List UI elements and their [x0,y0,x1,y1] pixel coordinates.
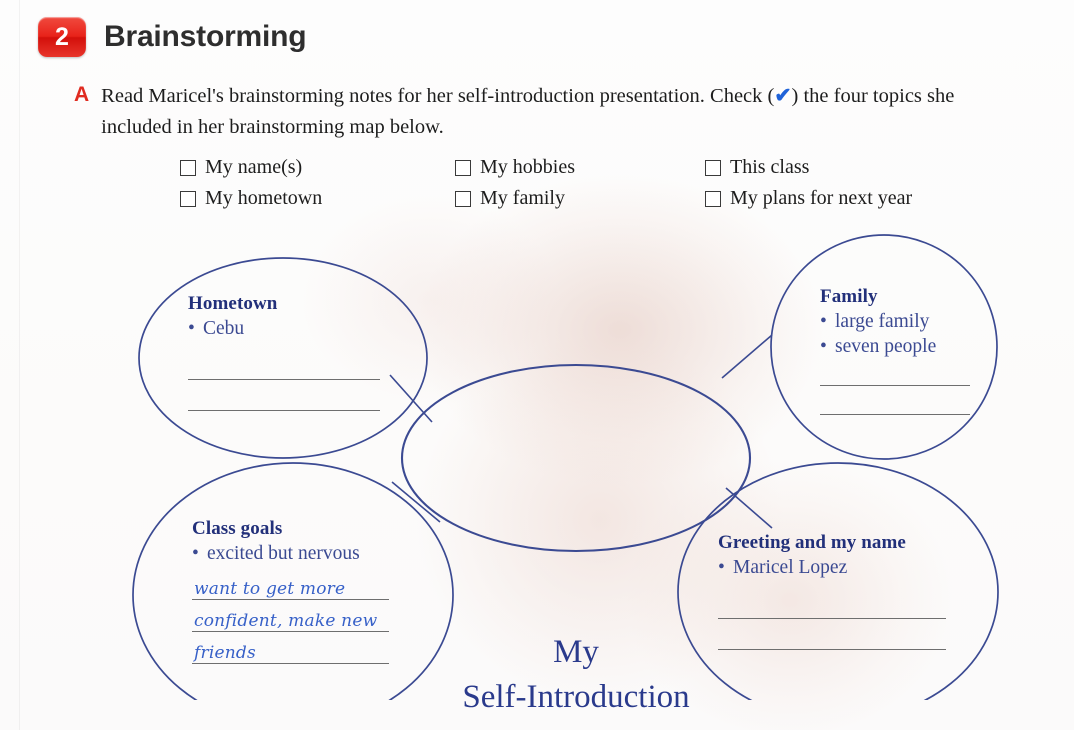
section-header: 2 Brainstorming [38,17,306,57]
blank-write-line[interactable] [718,649,946,650]
handwriting-line[interactable]: confident, make new [192,611,389,632]
section-number-badge: 2 [38,17,86,57]
bubble-class-goals: Class goals excited but nervous want to … [192,518,404,664]
task-letter: A [74,80,89,143]
blank-write-line[interactable] [820,414,970,415]
bubble-hometown: Hometown Cebu [188,293,388,411]
instruction-text-part1: Read Maricel's brainstorming notes for h… [101,85,774,107]
connector-hometown [390,375,432,422]
blank-write-line[interactable] [188,379,380,380]
bubble-outline-center [402,365,750,551]
mind-map-center-label: My Self-Introduction [404,630,748,720]
option-my-plans-next-year[interactable]: My plans for next year [705,183,912,214]
page-title: Brainstorming [104,20,306,54]
bubble-title: Family [820,286,1000,308]
connector-family [722,335,772,378]
connector-class-goals [392,482,440,522]
option-my-hobbies[interactable]: My hobbies [455,152,705,183]
handwriting-line[interactable]: want to get more [192,579,389,600]
checkbox-icon[interactable] [180,191,196,207]
blank-write-line[interactable] [820,385,970,386]
option-label: My hobbies [480,156,575,179]
option-label: This class [730,156,809,179]
brainstorming-mind-map: Hometown Cebu Family large family seven … [0,230,1074,700]
option-my-hometown[interactable]: My hometown [180,183,455,214]
bubble-title: Class goals [192,518,404,540]
bubble-greeting: Greeting and my name Maricel Lopez [718,532,968,650]
checkbox-icon[interactable] [705,191,721,207]
bubble-item: seven people [820,334,1000,359]
option-label: My plans for next year [730,187,912,210]
bubble-item: Maricel Lopez [718,555,968,580]
option-my-names[interactable]: My name(s) [180,152,455,183]
checkbox-icon[interactable] [705,160,721,176]
handwriting-line[interactable]: friends [192,643,389,664]
checkbox-icon[interactable] [455,160,471,176]
topic-options-list: My name(s) My hobbies This class My home… [180,152,912,214]
instruction-text: Read Maricel's brainstorming notes for h… [101,80,1016,143]
connector-lines [390,335,772,528]
task-instruction: A Read Maricel's brainstorming notes for… [74,80,1034,143]
checkbox-icon[interactable] [455,191,471,207]
center-label-line2: Self-Introduction [404,675,748,720]
bubble-title: Greeting and my name [718,532,968,554]
blank-write-line[interactable] [718,618,946,619]
bubble-item: large family [820,309,1000,334]
bubble-item: Cebu [188,316,388,341]
option-label: My name(s) [205,156,302,179]
bubble-family: Family large family seven people [820,286,1000,415]
center-label-line1: My [404,630,748,675]
bubble-title: Hometown [188,293,388,315]
option-label: My hometown [205,187,322,210]
blank-write-line[interactable] [188,410,380,411]
checkbox-icon[interactable] [180,160,196,176]
option-label: My family [480,187,565,210]
checkmark-icon: ✔ [774,84,791,107]
option-my-family[interactable]: My family [455,183,705,214]
option-this-class[interactable]: This class [705,152,912,183]
bubble-item: excited but nervous [192,541,404,566]
